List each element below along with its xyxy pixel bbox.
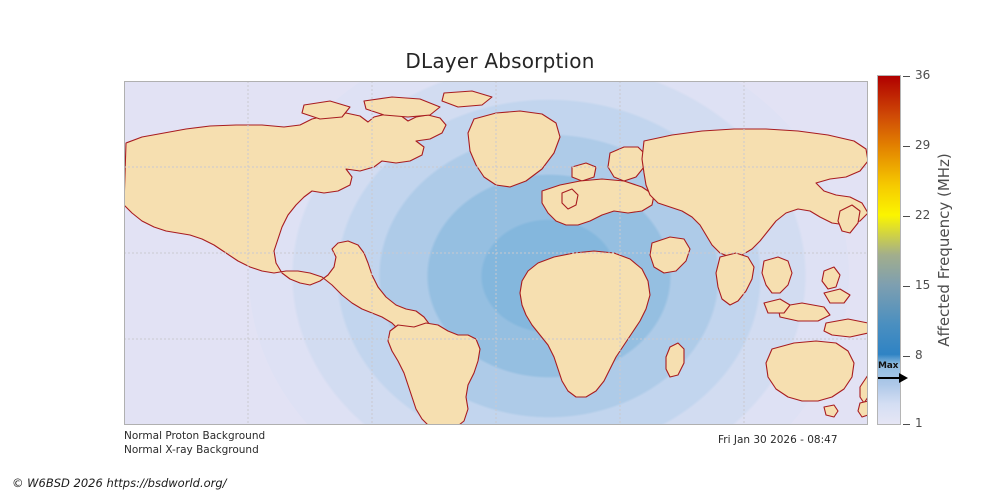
tick-mark <box>903 146 910 147</box>
colorbar-max-annotation: Max <box>877 361 917 387</box>
tick-mark <box>903 424 910 425</box>
world-map[interactable] <box>124 81 868 425</box>
tick-mark <box>903 216 910 217</box>
tick-mark <box>903 286 910 287</box>
world-map-svg <box>124 81 868 425</box>
max-label: Max <box>878 361 898 371</box>
note-proton-background: Normal Proton Background <box>124 430 265 442</box>
tick-mark <box>903 76 910 77</box>
dlayer-absorption-figure: DLayer Absorption <box>0 0 1000 500</box>
colorbar[interactable]: 36 29 22 15 8 1 Max <box>877 75 901 425</box>
footer-credit: © W6BSD 2026 https://bsdworld.org/ <box>12 476 227 490</box>
right-arrow-icon <box>877 372 909 384</box>
timestamp-label: Fri Jan 30 2026 - 08:47 <box>718 434 838 446</box>
tick-mark <box>903 356 910 357</box>
colorbar-axis-label: Affected Frequency (MHz) <box>931 75 957 425</box>
page-title: DLayer Absorption <box>0 49 1000 73</box>
note-xray-background: Normal X-ray Background <box>124 444 259 456</box>
